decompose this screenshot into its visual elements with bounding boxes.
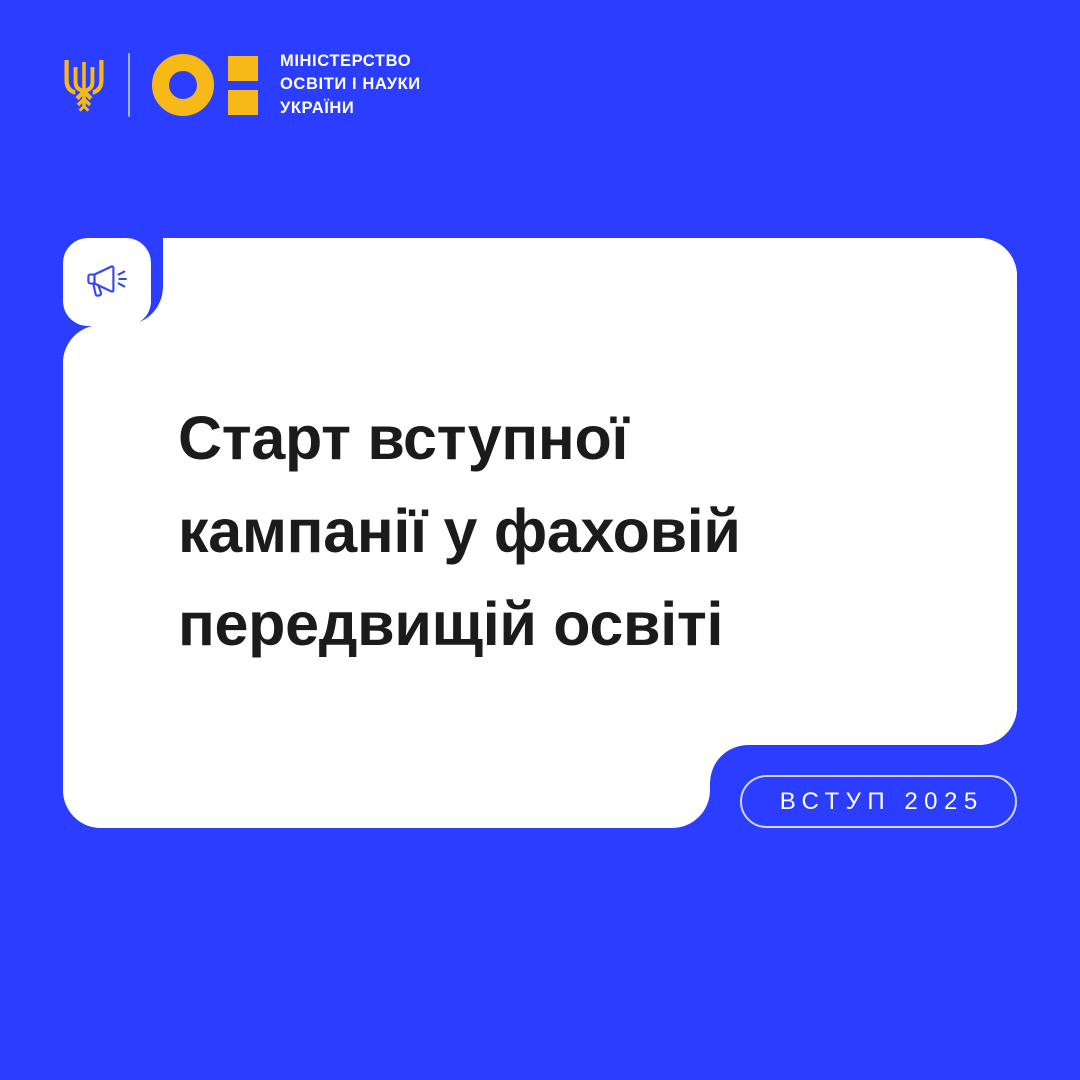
headline-line-2: кампанії у фаховій (178, 485, 878, 578)
logo-square-bottom (228, 90, 258, 115)
vertical-divider (128, 53, 130, 117)
headline-line-3: передвищій освіті (178, 578, 878, 671)
ministry-line-2: ОСВІТИ І НАУКИ (280, 73, 421, 96)
megaphone-icon (81, 256, 133, 308)
ministry-name: МІНІСТЕРСТВО ОСВІТИ І НАУКИ УКРАЇНИ (280, 50, 421, 120)
logo-square-top (228, 56, 258, 81)
mon-o-squares-logo-icon (152, 54, 258, 116)
logo-squares-icon (228, 56, 258, 115)
megaphone-badge (63, 238, 151, 326)
page-title: Старт вступної кампанії у фаховій передв… (178, 392, 878, 671)
logo-ring-icon (152, 54, 214, 116)
ministry-line-3: УКРАЇНИ (280, 97, 421, 120)
headline-line-1: Старт вступної (178, 392, 878, 485)
ministry-line-1: МІНІСТЕРСТВО (280, 50, 421, 73)
ukraine-trident-icon (62, 54, 106, 116)
header-logo-lockup: МІНІСТЕРСТВО ОСВІТИ І НАУКИ УКРАЇНИ (62, 44, 421, 126)
poster-canvas: МІНІСТЕРСТВО ОСВІТИ І НАУКИ УКРАЇНИ Стар… (0, 0, 1080, 1080)
status-badge-vstup-2025: ВСТУП 2025 (740, 775, 1017, 828)
